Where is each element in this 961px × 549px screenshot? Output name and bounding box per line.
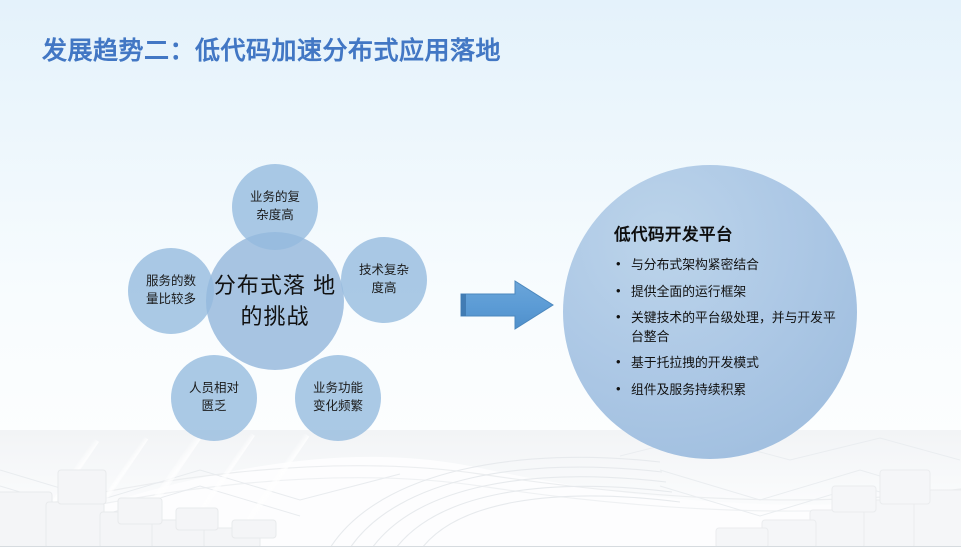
list-item: • 与分布式架构紧密结合 xyxy=(614,256,846,275)
bullet-icon: • xyxy=(616,308,621,327)
satellite-right-line1: 技术复杂 xyxy=(359,262,409,280)
slide-canvas: 发展趋势二：低代码加速分布式应用落地 分布式落 地的挑战 业务的复 杂度高 服务… xyxy=(0,0,961,549)
satellite-circle-feature-churn[interactable]: 业务功能 变化频繁 xyxy=(295,355,381,441)
bullet-text: 组件及服务持续积累 xyxy=(631,382,746,397)
satellite-bottom-left-line2: 匮乏 xyxy=(189,398,239,416)
center-circle-challenges[interactable]: 分布式落 地的挑战 xyxy=(206,232,344,370)
bullet-text: 基于托拉拽的开发模式 xyxy=(631,355,759,370)
bullet-icon: • xyxy=(616,353,621,372)
satellite-top-line1: 业务的复 xyxy=(250,189,300,207)
arrow-right-icon xyxy=(461,281,553,329)
bullet-text: 关键技术的平台级处理，并与开发平台整合 xyxy=(631,310,836,344)
satellite-circle-business-complexity[interactable]: 业务的复 杂度高 xyxy=(232,164,318,250)
low-code-platform-panel: 低代码开发平台 • 与分布式架构紧密结合 • 提供全面的运行框架 • 关键技术的… xyxy=(614,221,846,407)
flow-arrow xyxy=(459,279,555,331)
bullet-icon: • xyxy=(616,282,621,301)
satellite-bottom-right-line1: 业务功能 xyxy=(313,380,363,398)
list-item: • 提供全面的运行框架 xyxy=(614,283,846,302)
satellite-circle-tech-complexity[interactable]: 技术复杂 度高 xyxy=(341,237,427,323)
bullet-text: 提供全面的运行框架 xyxy=(631,284,746,299)
satellite-top-line2: 杂度高 xyxy=(250,207,300,225)
satellite-circle-staff-shortage[interactable]: 人员相对 匮乏 xyxy=(171,355,257,441)
satellite-left-line1: 服务的数 xyxy=(146,273,196,291)
list-item: • 关键技术的平台级处理，并与开发平台整合 xyxy=(614,309,846,346)
center-circle-line1: 分布式落 xyxy=(214,273,306,298)
page-title: 发展趋势二：低代码加速分布式应用落地 xyxy=(42,31,501,67)
panel-title: 低代码开发平台 xyxy=(614,221,846,245)
list-item: • 组件及服务持续积累 xyxy=(614,381,846,400)
panel-bullet-list: • 与分布式架构紧密结合 • 提供全面的运行框架 • 关键技术的平台级处理，并与… xyxy=(614,256,846,399)
bullet-icon: • xyxy=(616,380,621,399)
bullet-icon: • xyxy=(616,255,621,274)
satellite-circle-service-count[interactable]: 服务的数 量比较多 xyxy=(128,248,214,334)
satellite-right-line2: 度高 xyxy=(359,280,409,298)
list-item: • 基于托拉拽的开发模式 xyxy=(614,354,846,373)
satellite-bottom-right-line2: 变化频繁 xyxy=(313,398,363,416)
bullet-text: 与分布式架构紧密结合 xyxy=(631,257,759,272)
satellite-left-line2: 量比较多 xyxy=(146,291,196,309)
satellite-bottom-left-line1: 人员相对 xyxy=(189,380,239,398)
